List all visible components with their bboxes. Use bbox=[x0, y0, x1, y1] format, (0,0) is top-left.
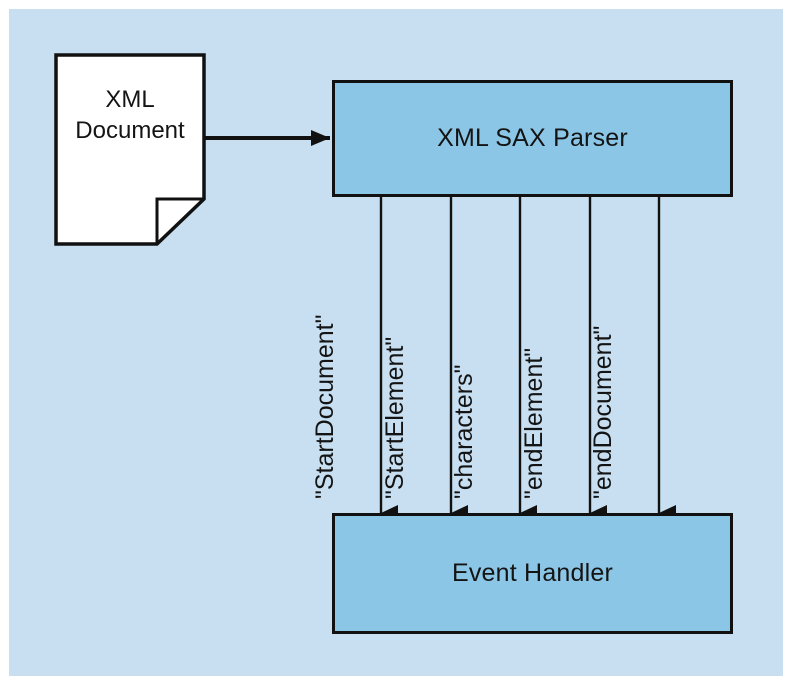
event-label-startelement: "StartElement" bbox=[381, 337, 410, 499]
event-handler-box[interactable]: Event Handler bbox=[332, 513, 733, 634]
xml-document-shape bbox=[54, 53, 206, 246]
event-label-enddocument: "endDocument" bbox=[589, 326, 618, 499]
diagram-root: XML Document XML SAX Parser Event Handle… bbox=[0, 0, 793, 690]
event-handler-label: Event Handler bbox=[452, 559, 613, 588]
event-label-startdocument: "StartDocument" bbox=[311, 315, 340, 500]
event-label-endelement: "endElement" bbox=[520, 348, 549, 499]
xml-sax-parser-label: XML SAX Parser bbox=[437, 124, 628, 153]
event-label-characters: "characters" bbox=[450, 365, 479, 499]
xml-sax-parser-box[interactable]: XML SAX Parser bbox=[332, 80, 733, 197]
